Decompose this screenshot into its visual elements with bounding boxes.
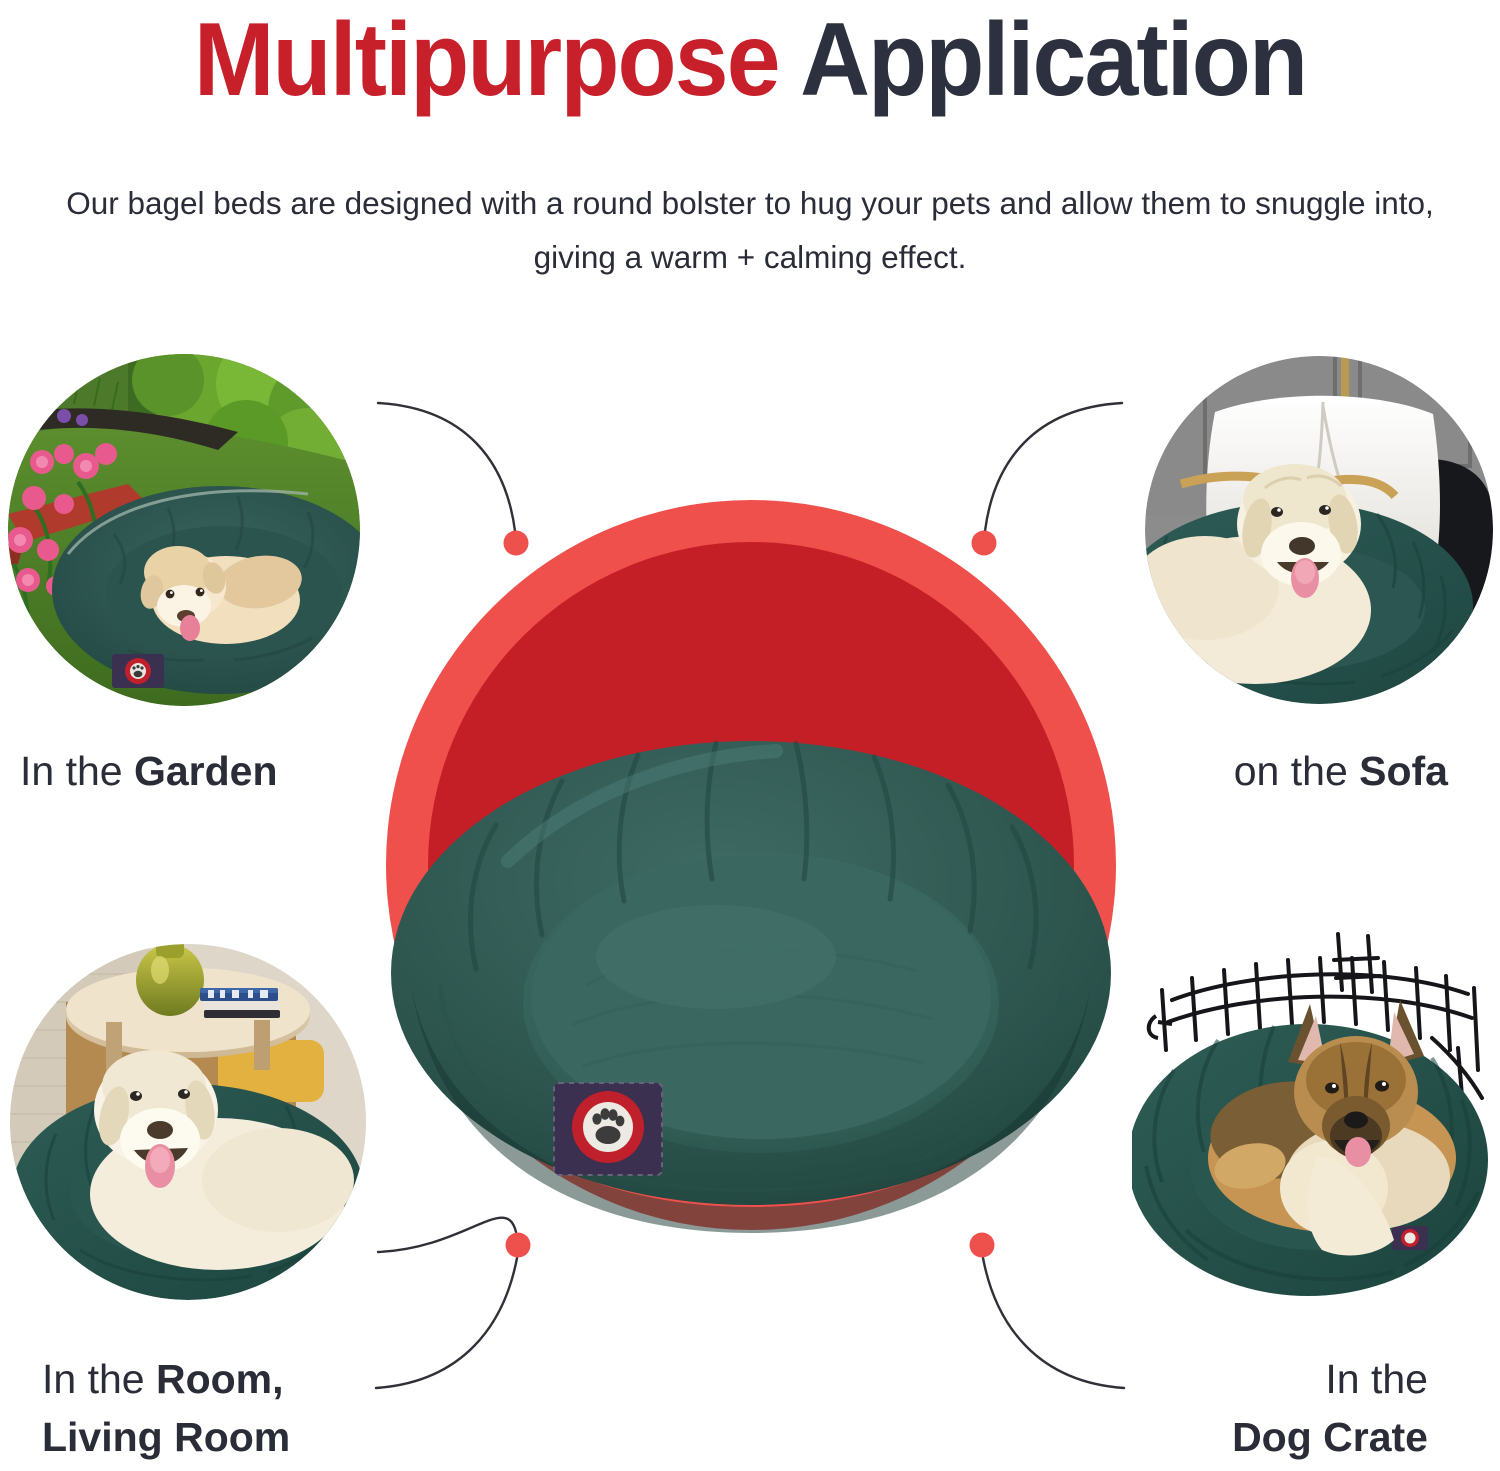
caption-sofa-prefix: on the xyxy=(1234,748,1359,794)
caption-dog-crate-prefix: In the xyxy=(1325,1356,1428,1402)
caption-garden: In the Garden xyxy=(20,742,278,800)
caption-living-room: In the Room, Living Room xyxy=(42,1350,290,1466)
caption-living-room-line1: In the Room, xyxy=(42,1350,290,1408)
connector-line-living-room xyxy=(376,1258,517,1388)
page-title: Multipurpose Application xyxy=(53,4,1448,116)
page-title-highlight: Multipurpose xyxy=(194,2,779,118)
caption-living-room-bold: Room, xyxy=(156,1356,284,1402)
caption-sofa: on the Sofa xyxy=(1234,742,1448,800)
caption-dog-crate: In the Dog Crate xyxy=(1232,1350,1428,1466)
hero-product-bed xyxy=(376,685,1126,1240)
caption-garden-bold: Garden xyxy=(134,748,278,794)
photo-dog-crate xyxy=(1132,930,1500,1298)
infographic-page: Multipurpose Application Our bagel beds … xyxy=(0,0,1500,1471)
caption-living-room-bold2: Living Room xyxy=(42,1414,290,1460)
caption-dog-crate-bold2: Dog Crate xyxy=(1232,1414,1428,1460)
photo-living-room xyxy=(10,944,366,1300)
caption-dog-crate-line1: In the xyxy=(1232,1350,1428,1408)
page-title-rest: Application xyxy=(779,2,1307,118)
page-subtitle: Our bagel beds are designed with a round… xyxy=(40,176,1460,284)
caption-dog-crate-line2: Dog Crate xyxy=(1232,1408,1428,1466)
caption-garden-prefix: In the xyxy=(20,748,134,794)
connector-line-dog-crate xyxy=(983,1258,1124,1388)
hero-product-graphic xyxy=(386,500,1116,1240)
photo-garden xyxy=(8,354,360,706)
brand-tag xyxy=(554,1083,662,1175)
caption-sofa-bold: Sofa xyxy=(1359,748,1448,794)
caption-living-room-prefix: In the xyxy=(42,1356,156,1402)
photo-sofa xyxy=(1145,356,1493,704)
caption-living-room-line2: Living Room xyxy=(42,1408,290,1466)
